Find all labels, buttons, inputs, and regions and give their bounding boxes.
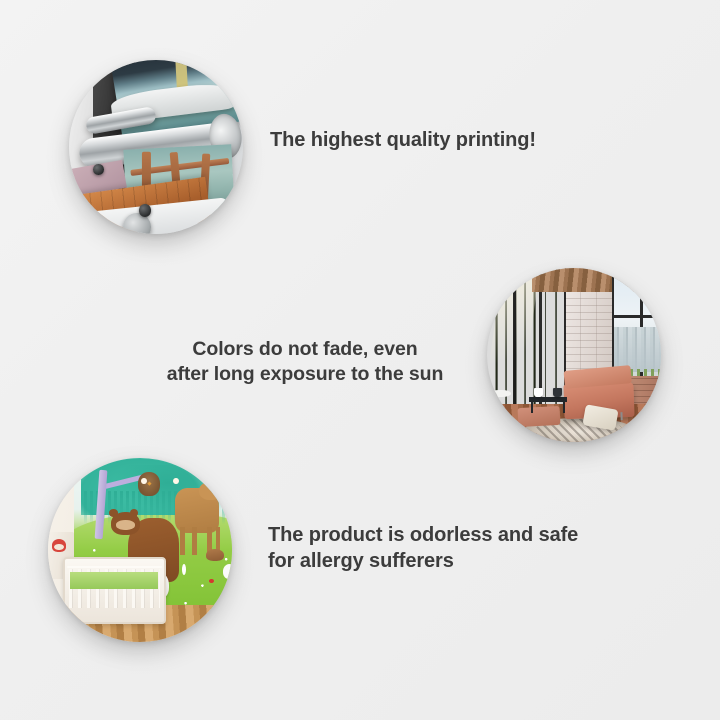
press-knob xyxy=(139,204,151,216)
feature-caption-odorless: The product is odorless and safe for all… xyxy=(268,523,608,574)
mural-hedgehog xyxy=(206,549,225,561)
sofa-leg xyxy=(620,412,622,420)
mural-bear-head xyxy=(111,512,140,535)
feature-image-loft-interior xyxy=(487,268,661,442)
feature-image-nursery xyxy=(48,458,232,642)
mural-deer-leg xyxy=(180,527,184,554)
feature-caption-quality: The highest quality printing! xyxy=(270,128,600,154)
press-knob xyxy=(93,164,103,174)
printing-press-scene xyxy=(69,60,243,234)
feature-caption-fade: Colors do not fade, even after long expo… xyxy=(140,337,470,387)
side-stool xyxy=(490,390,511,397)
baby-crib xyxy=(63,557,166,623)
nursery-scene xyxy=(48,458,232,642)
infographic-stage: The highest quality printing! xyxy=(0,0,720,720)
coffee-table xyxy=(529,397,567,402)
feature-image-printing-press xyxy=(69,60,243,234)
mural-panel-divider xyxy=(513,268,516,407)
leather-ottoman xyxy=(518,406,561,427)
mural-owl xyxy=(138,472,160,496)
table-cup xyxy=(534,388,543,397)
crib-mattress xyxy=(70,572,158,589)
mural-deer-leg xyxy=(192,527,196,554)
mural-bird xyxy=(223,564,232,579)
shelf-toy xyxy=(52,539,67,552)
loft-interior-scene xyxy=(487,268,661,442)
table-cup xyxy=(553,388,562,397)
